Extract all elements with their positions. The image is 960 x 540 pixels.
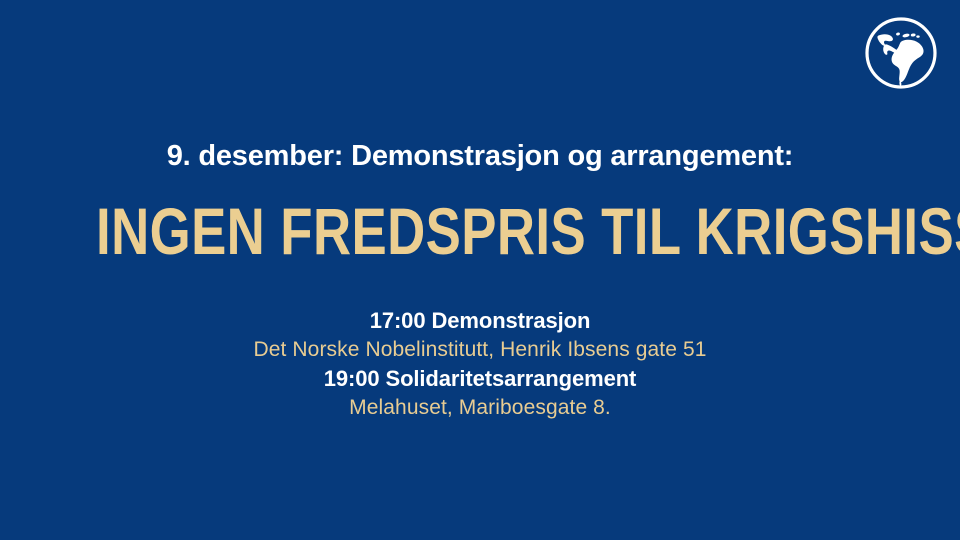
globe-americas-icon bbox=[862, 14, 940, 92]
event-details: 17:00 Demonstrasjon Det Norske Nobelinst… bbox=[0, 306, 960, 422]
kicker-text: 9. desember: Demonstrasjon og arrangemen… bbox=[0, 141, 960, 173]
page-title: INGEN FREDSPRIS TIL KRIGSHISSERE bbox=[96, 198, 864, 264]
detail-line-time-2: 19:00 Solidaritetsarrangement bbox=[0, 364, 960, 393]
detail-line-venue-2: Melahuset, Mariboesgate 8. bbox=[0, 393, 960, 422]
detail-line-venue-1: Det Norske Nobelinstitutt, Henrik Ibsens… bbox=[0, 335, 960, 364]
detail-line-time-1: 17:00 Demonstrasjon bbox=[0, 306, 960, 335]
poster-canvas: 9. desember: Demonstrasjon og arrangemen… bbox=[0, 0, 960, 540]
